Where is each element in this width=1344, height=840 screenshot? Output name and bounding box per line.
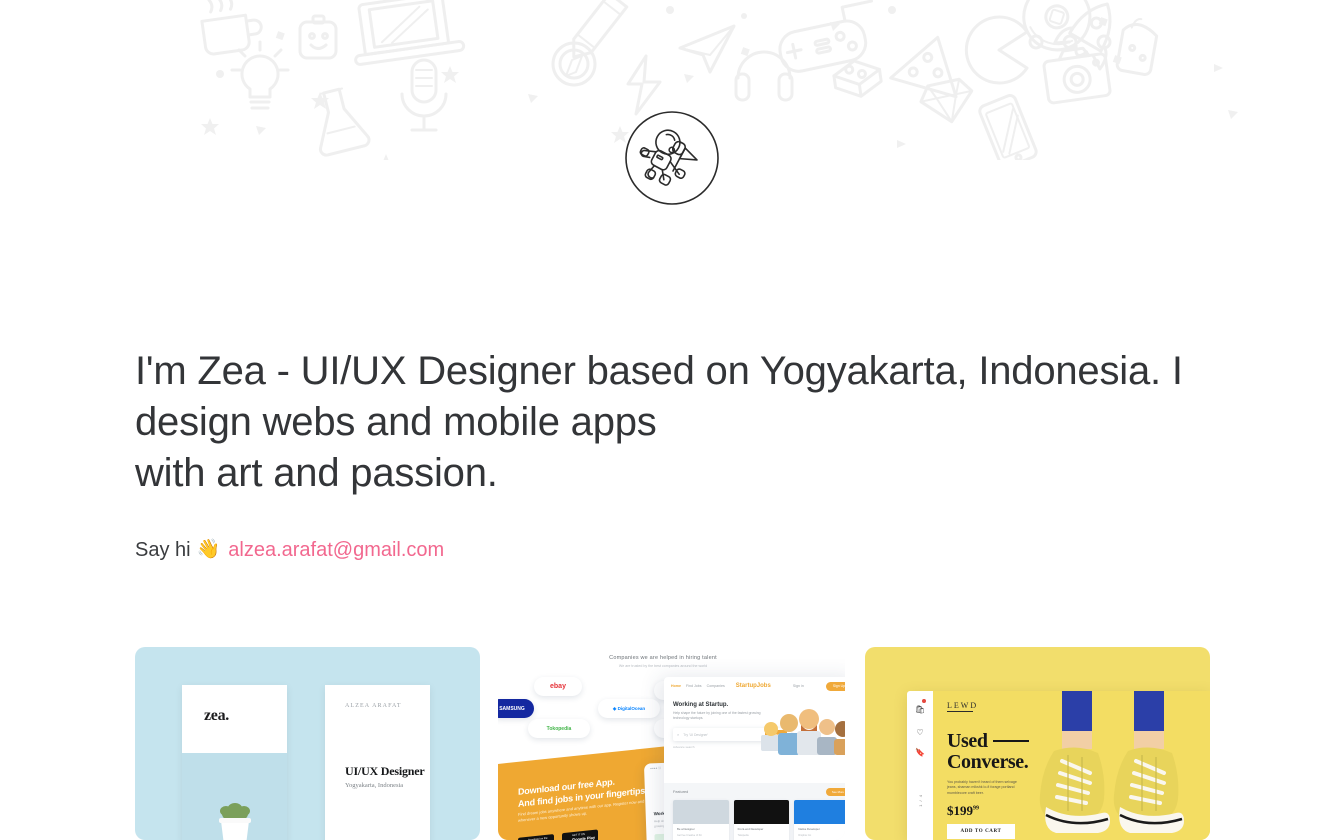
lego-brick-icon	[832, 58, 883, 100]
business-card-role: UI/UX Designer	[345, 764, 430, 779]
laptop-icon	[348, 0, 464, 65]
featured-card[interactable]: Be a Designer Get free Creative UI Kit	[673, 800, 729, 840]
star-icon	[311, 92, 329, 109]
add-to-cart-button[interactable]: ADD TO CART	[947, 824, 1015, 839]
shop-side-rail: 🛍 ♡ 🔖 1 / 4	[907, 691, 933, 840]
logo-samsung: SAMSUNG	[498, 699, 534, 718]
astronaut-icon	[631, 122, 704, 194]
astronaut-in-circle-logo	[624, 110, 720, 206]
browser-nav: Home Find Jobs Companies StartupJobs Sig…	[664, 677, 845, 695]
landing-page-mockup: Companies we are helped in hiring talent…	[498, 647, 845, 840]
dot-icon	[666, 6, 674, 14]
lego-head-icon	[300, 16, 336, 58]
yellow-converse-photo	[1024, 691, 1210, 840]
say-hi-label: Say hi	[135, 537, 191, 563]
triangle-icon	[256, 126, 266, 135]
shop-page-mockup: 🛍 ♡ 🔖 1 / 4 LEWD UsedConverse. You proba…	[907, 691, 1210, 840]
portfolio-page: I'm Zea - UI/UX Designer based on Yogyak…	[0, 0, 1344, 840]
lightning-bolt-icon	[628, 56, 660, 114]
lightbulb-icon	[232, 42, 288, 108]
logo-tokopedia: Tokopedia	[528, 719, 590, 738]
pacman-dot-icon	[1030, 36, 1042, 48]
dot-icon	[216, 70, 224, 78]
contact-line: Say hi 👋 alzea.arafat@gmail.com	[135, 537, 1210, 563]
smartphone-icon	[978, 94, 1038, 160]
project-card-branding[interactable]: zea. ALZEA ARAFAT	[135, 647, 480, 840]
slide-pager: 1 / 4	[918, 794, 923, 807]
browser-mockup: Home Find Jobs Companies StartupJobs Sig…	[664, 677, 845, 840]
pencil-icon	[565, 0, 627, 64]
companies-subcaption: We are trusted by the best companies aro…	[558, 664, 768, 668]
search-input[interactable]: Try 'UI Designer'	[683, 733, 708, 737]
dot-icon	[741, 13, 747, 19]
square-icon	[1113, 55, 1122, 64]
product-title: UsedConverse.	[947, 731, 1029, 773]
paper-plane-icon	[680, 26, 734, 72]
star-icon	[441, 66, 459, 83]
product-description: You probably haven't heard of them selva…	[947, 780, 1023, 796]
potted-plant-icon	[214, 799, 256, 840]
headline-line-2: with art and passion.	[135, 451, 498, 495]
bag-icon	[1116, 16, 1159, 75]
business-card-brand: zea.	[204, 707, 287, 725]
triangle-icon	[1214, 64, 1223, 72]
featured-card[interactable]: Front-end Developer Tokopedia	[734, 800, 790, 840]
featured-header: Featured See More	[664, 783, 845, 796]
star-icon	[201, 118, 219, 135]
star-icon	[377, 154, 395, 160]
square-icon	[276, 31, 285, 40]
pacman-dot-icon	[1064, 36, 1076, 48]
triangle-icon	[528, 94, 538, 103]
headphones-icon	[736, 52, 792, 100]
cd-disc-icon	[1015, 0, 1098, 58]
cart-badge	[922, 699, 926, 703]
companies-caption: Companies we are helped in hiring talent	[548, 655, 778, 661]
google-play-button[interactable]: GET IT ON Google Play	[562, 829, 598, 840]
logo-digitalocean: ◈ DigitalOcean	[598, 699, 660, 718]
camera-icon	[1042, 45, 1110, 103]
coffee-mug-icon	[199, 0, 264, 55]
triangle-icon	[684, 74, 694, 83]
business-card-photo	[182, 753, 287, 840]
product-price: $19999	[947, 803, 979, 819]
square-icon	[1099, 17, 1108, 26]
pacman-dot-icon	[1098, 36, 1110, 48]
featured-label: Featured	[673, 790, 688, 794]
team-illustration	[759, 707, 845, 755]
see-more-button[interactable]: See More	[826, 788, 845, 796]
headline-line-1: I'm Zea - UI/UX Designer based on Yogyak…	[135, 349, 1194, 444]
featured-cards: Be a Designer Get free Creative UI Kit F…	[664, 796, 845, 840]
microphone-icon	[402, 60, 446, 130]
pizza-icon	[891, 28, 971, 97]
browser-hero-body: Help shape the future by joining one of …	[673, 711, 763, 721]
featured-card[interactable]: Native Developer Dropbox Inc	[794, 800, 845, 840]
triangle-icon	[830, 22, 840, 31]
shopping-bag-icon[interactable]: 🛍	[915, 705, 925, 714]
search-icon: ⌕	[677, 732, 679, 737]
pacman-icon	[966, 17, 1027, 83]
app-store-button[interactable]: Download on the App Store	[518, 834, 554, 840]
rocket-icon	[1055, 0, 1131, 69]
square-icon	[741, 47, 750, 56]
project-card-startupjobs[interactable]: Companies we are helped in hiring talent…	[498, 647, 845, 840]
shop-brand: LEWD	[947, 701, 978, 712]
dot-icon	[888, 6, 896, 14]
startupjobs-logo: StartupJobs	[736, 683, 771, 689]
business-card-location: Yogyakarta, Indonesia	[345, 782, 430, 789]
flask-icon	[307, 85, 370, 156]
diamond-icon	[918, 77, 977, 127]
business-card-front: zea.	[182, 685, 287, 840]
bookmark-icon[interactable]: 🔖	[915, 748, 925, 757]
project-card-converse-shop[interactable]: 🛍 ♡ 🔖 1 / 4 LEWD UsedConverse. You proba…	[865, 647, 1210, 840]
business-card-name: ALZEA ARAFAT	[345, 703, 430, 709]
compass-icon	[553, 43, 595, 85]
waving-hand-icon: 👋	[197, 537, 221, 563]
featured-section: Featured See More Be a Designer Get free…	[664, 783, 845, 840]
heart-icon[interactable]: ♡	[916, 728, 923, 737]
triangle-icon	[1228, 110, 1238, 119]
project-cards: zea. ALZEA ARAFAT	[135, 647, 1210, 840]
hero-content: I'm Zea - UI/UX Designer based on Yogyak…	[135, 346, 1210, 563]
signup-button[interactable]: Sign Up	[826, 682, 845, 691]
business-card-back: ALZEA ARAFAT UI/UX Designer Yogyakarta, …	[325, 685, 430, 840]
page-title: I'm Zea - UI/UX Designer based on Yogyak…	[135, 346, 1210, 499]
triangle-icon	[897, 140, 906, 148]
logo-ebay: ebay	[534, 677, 582, 696]
gamepad-icon	[772, 0, 883, 75]
email-link[interactable]: alzea.arafat@gmail.com	[228, 537, 444, 563]
